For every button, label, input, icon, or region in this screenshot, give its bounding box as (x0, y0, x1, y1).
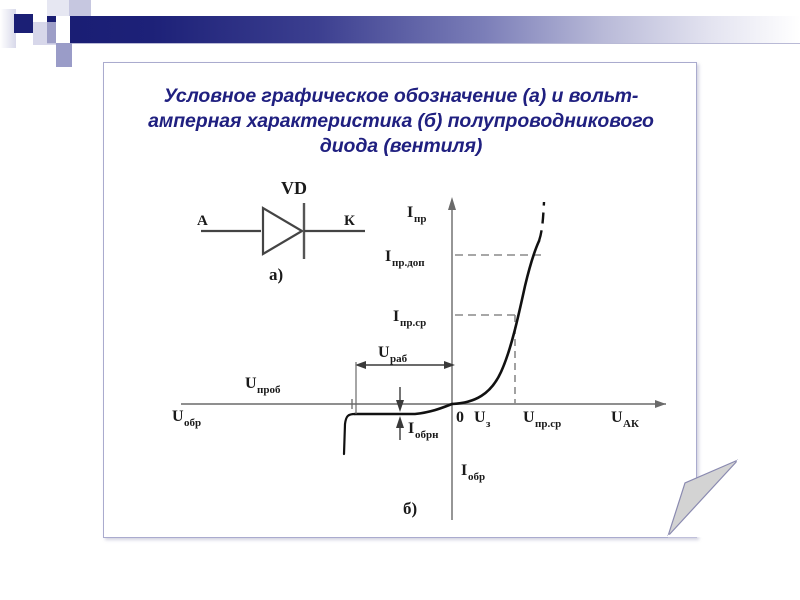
svg-text:пр.ср: пр.ср (400, 317, 426, 329)
svg-text:U: U (245, 375, 257, 392)
svg-text:I: I (407, 204, 413, 221)
i-obr-n-arrow-upper-head (396, 400, 404, 412)
anode-label: A (197, 213, 208, 229)
svg-text:проб: проб (257, 384, 281, 396)
svg-text:пр: пр (414, 213, 426, 225)
svg-text:I: I (385, 248, 391, 265)
header-square-lavender-low (33, 22, 56, 45)
label-i-obr: I обр (461, 462, 485, 483)
label-u-rab: U раб (378, 344, 408, 365)
svg-text:U: U (523, 409, 535, 426)
cathode-label: К (344, 213, 355, 229)
svg-text:I: I (461, 462, 467, 479)
reverse-breakdown-curve (344, 414, 355, 454)
diode-triangle (263, 208, 302, 254)
diode-designator-label: VD (281, 178, 307, 198)
x-axis-arrow (655, 400, 666, 408)
svg-text:раб: раб (390, 353, 408, 365)
svg-text:обрн: обрн (415, 429, 439, 441)
svg-text:пр.доп: пр.доп (392, 257, 425, 269)
label-u-obr: U обр (172, 408, 201, 429)
label-i-pr-sr: I пр.ср (393, 308, 426, 329)
figure-a-caption: а) (269, 265, 283, 284)
slide-header-decoration (0, 0, 800, 60)
forward-branch-curve (452, 241, 539, 404)
u-rab-arrow-right-head (444, 361, 455, 369)
header-square-navy (14, 14, 33, 33)
diode-symbol-group: A К VD а) (197, 178, 365, 284)
i-obr-n-arrow-lower-head (396, 416, 404, 428)
diode-figure: A К VD а) (103, 62, 697, 538)
y-axis-arrow (448, 197, 456, 210)
svg-text:обр: обр (468, 471, 485, 483)
svg-text:U: U (172, 408, 184, 425)
label-u-pr-sr: U пр.ср (523, 409, 561, 430)
svg-text:I: I (393, 308, 399, 325)
svg-text:U: U (474, 409, 486, 426)
svg-text:пр.ср: пр.ср (535, 418, 561, 430)
label-i-obr-n: I обрн (408, 420, 439, 441)
label-origin: 0 (456, 409, 464, 426)
label-i-pr-dop: I пр.доп (385, 248, 425, 269)
label-u-ak: U АК (611, 409, 639, 430)
iv-characteristic-group: I пр I пр.доп I пр.ср I обр I обрн U обр (172, 197, 666, 520)
u-rab-arrow-left-head (355, 361, 366, 369)
reverse-saturation-curve (355, 404, 452, 414)
header-square-white (56, 16, 70, 43)
forward-branch-dashed-extension (539, 202, 544, 241)
svg-text:обр: обр (184, 417, 201, 429)
label-i-pr: I пр (407, 204, 426, 225)
svg-text:U: U (611, 409, 623, 426)
svg-text:з: з (486, 418, 491, 430)
label-u-prob: U проб (245, 375, 281, 396)
header-square-violet (56, 43, 72, 67)
svg-text:I: I (408, 420, 414, 437)
label-u-z: U з (474, 409, 491, 430)
header-gradient-bar (47, 16, 800, 44)
svg-text:АК: АК (623, 418, 639, 430)
header-square-pale (47, 0, 69, 17)
figure-b-caption: б) (403, 499, 417, 518)
svg-text:U: U (378, 344, 390, 361)
